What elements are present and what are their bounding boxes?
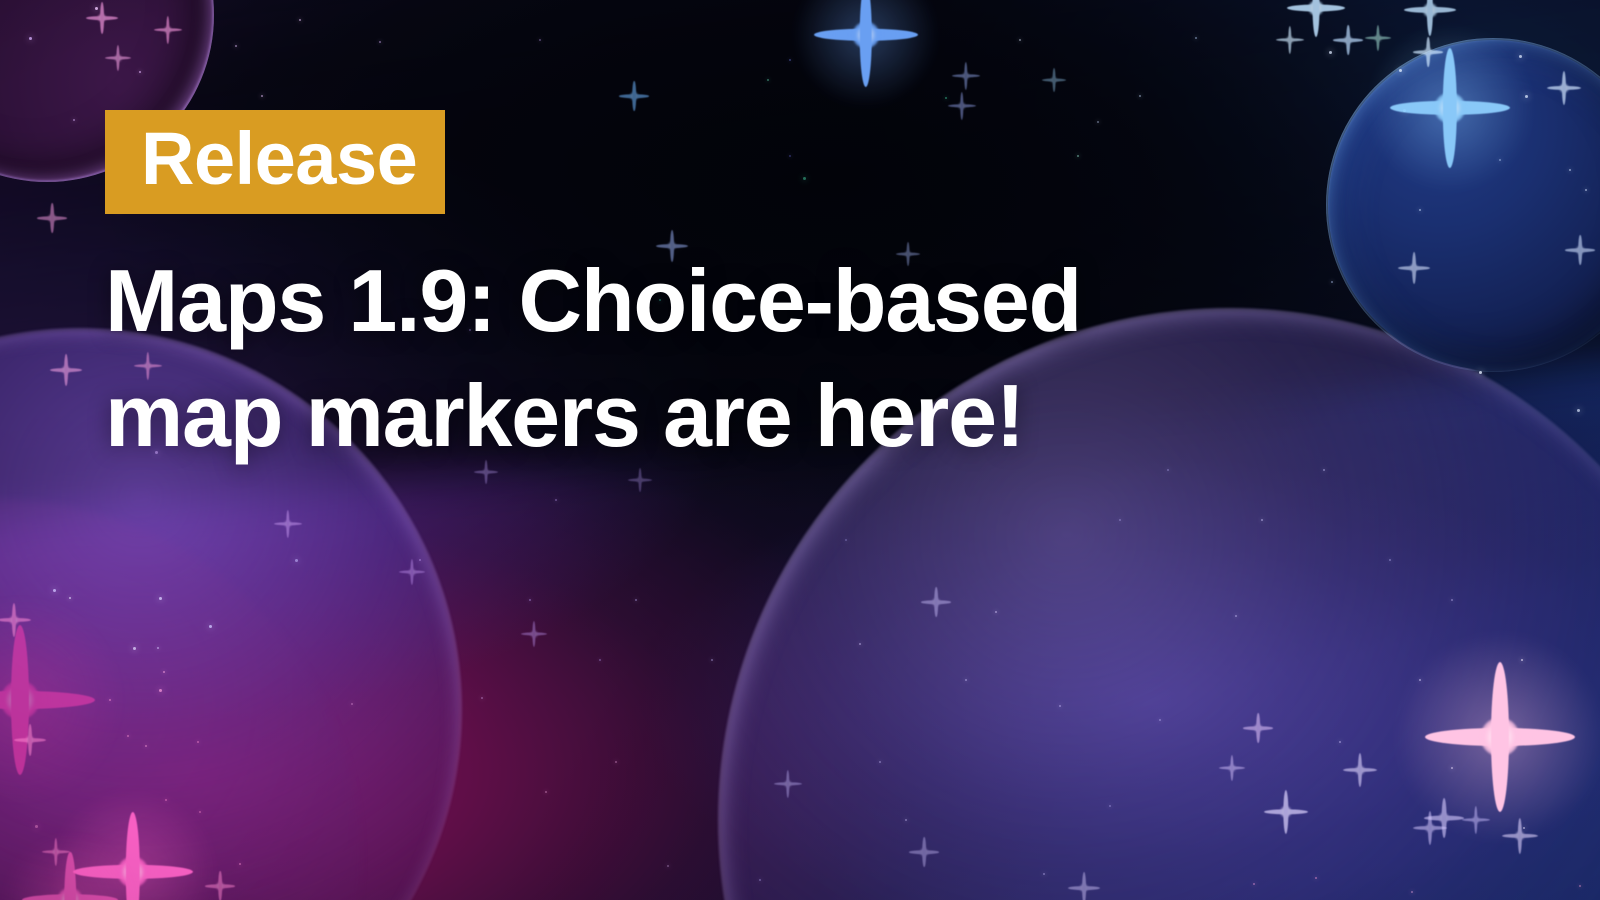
banner-content: Release Maps 1.9: Choice-based map marke…	[105, 110, 1395, 473]
release-banner: Release Maps 1.9: Choice-based map marke…	[0, 0, 1600, 900]
headline-text: Maps 1.9: Choice-based map markers are h…	[105, 244, 1395, 473]
release-badge-label: Release	[141, 124, 417, 194]
release-badge: Release	[105, 110, 445, 214]
